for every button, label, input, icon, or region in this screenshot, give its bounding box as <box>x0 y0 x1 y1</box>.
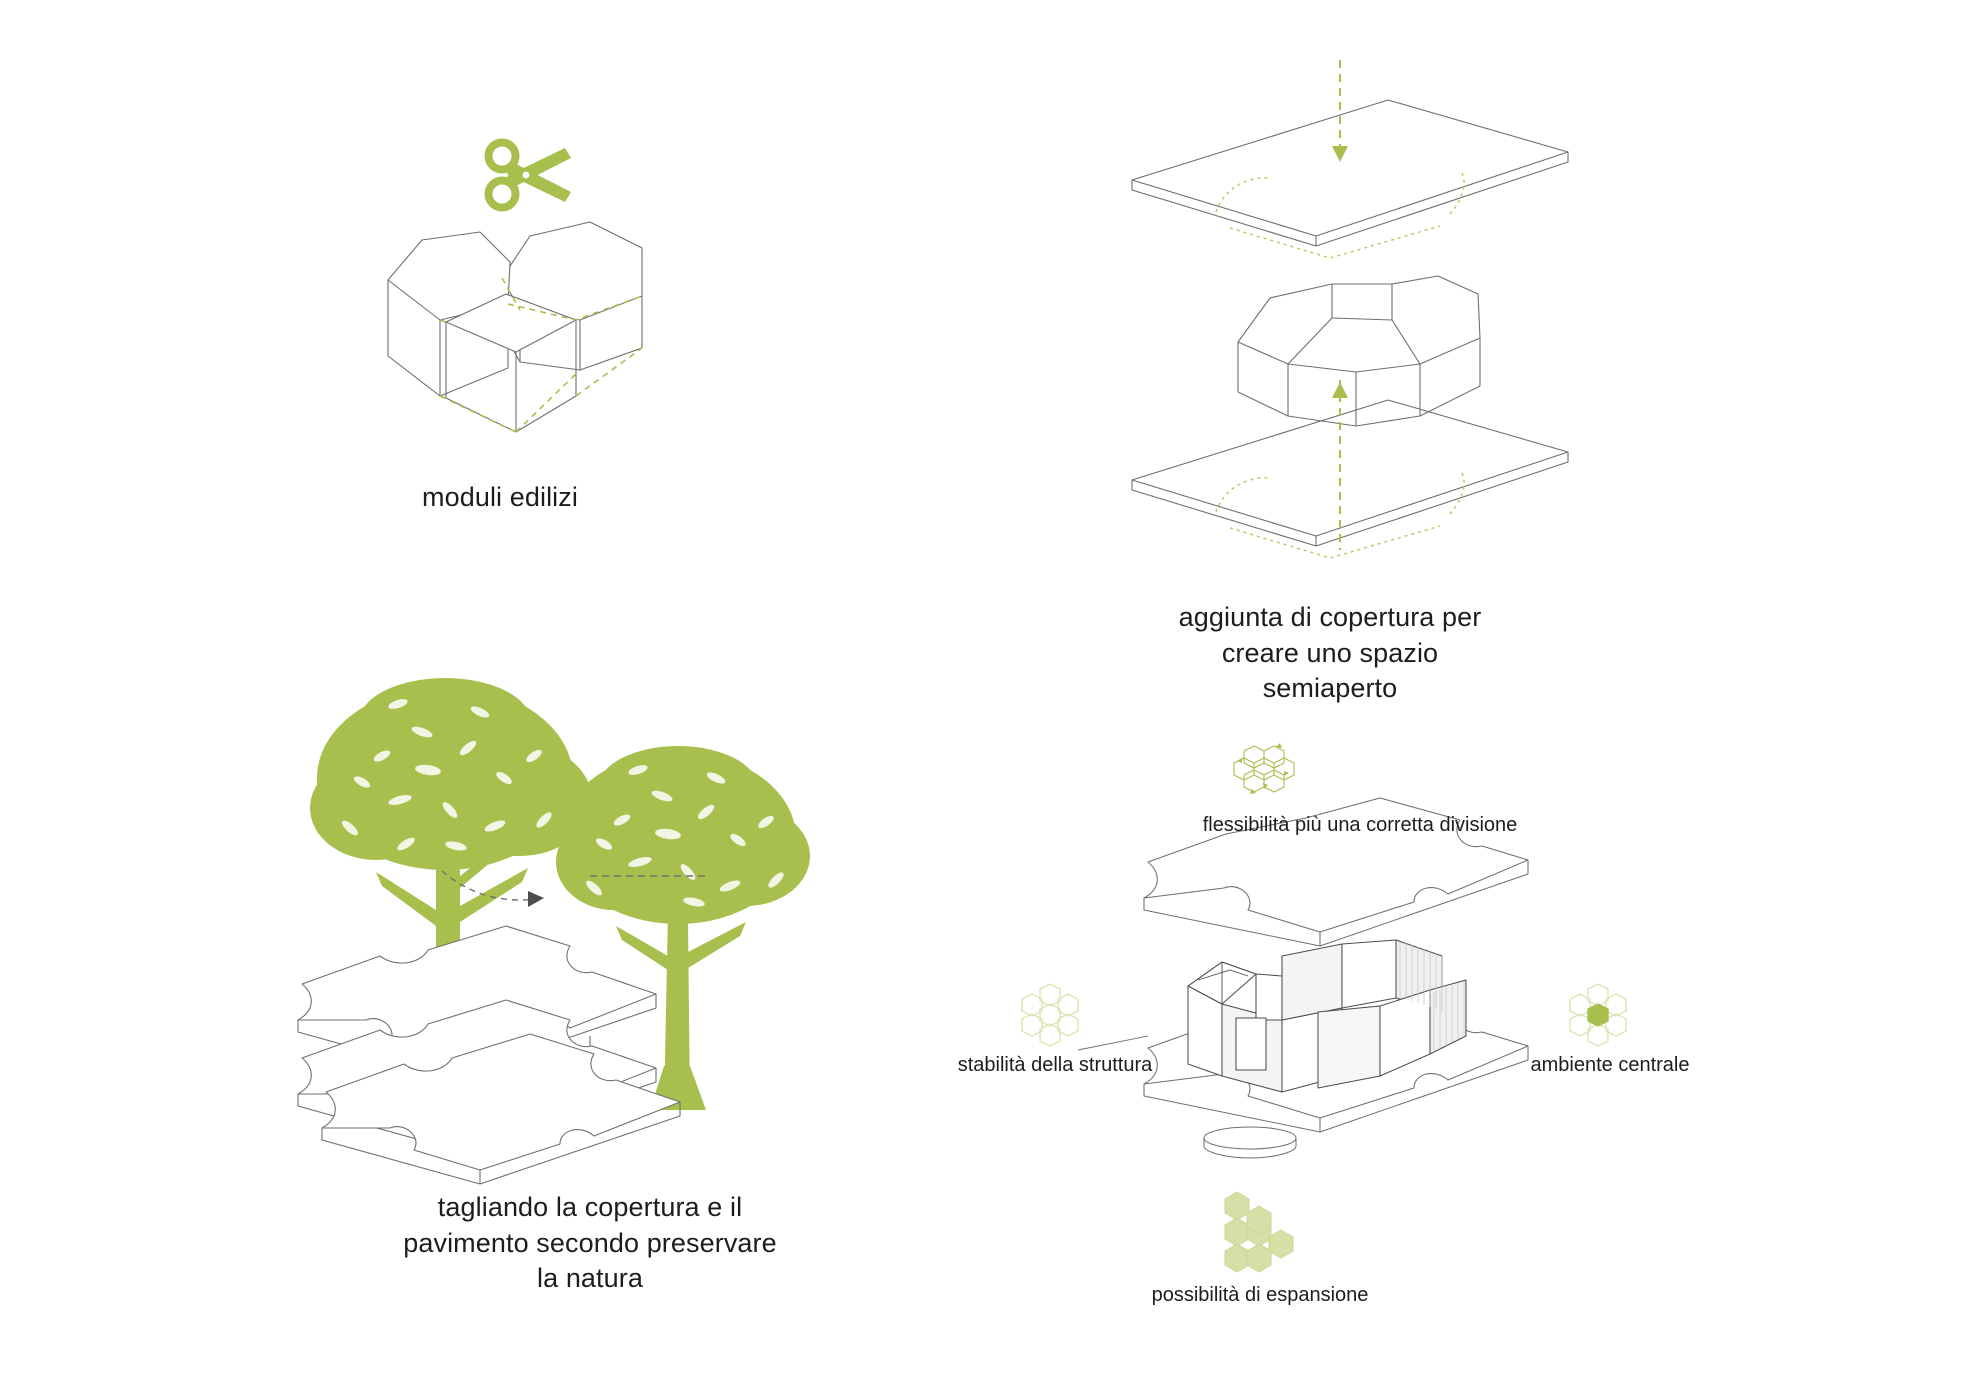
legend-ambiente <box>1578 982 1634 1048</box>
panel-struttura-finale <box>1130 840 1550 1170</box>
panel-moduli-edilizi <box>380 170 800 450</box>
hexagon-arrows-icon <box>1230 745 1300 801</box>
arrow-curve-icon <box>440 865 560 925</box>
label-espansione: possibilità di espansione <box>1100 1282 1420 1308</box>
central-volume-top <box>1238 276 1480 372</box>
scissors-icon <box>485 140 575 214</box>
cut-slabs-drawing <box>270 910 730 1210</box>
top-slab-face <box>1132 100 1568 236</box>
struttura-finale-drawing <box>1130 840 1550 1170</box>
panel-aggiunta-copertura <box>1120 80 1580 570</box>
leader-line-left <box>1078 1036 1148 1050</box>
aggiunta-copertura-drawing <box>1120 80 1580 570</box>
label-flessibilita: flessibilità più una corretta divisione <box>1130 812 1590 838</box>
honeycomb-center-icon <box>1578 982 1634 1048</box>
arrow-down-icon <box>1332 60 1348 162</box>
label-stabilita: stabilità della struttura <box>930 1052 1180 1078</box>
legend-espansione <box>1215 1190 1305 1274</box>
moduli-edilizi-drawing <box>380 170 800 450</box>
label-ambiente: ambiente centrale <box>1490 1052 1730 1078</box>
bottom-slab-face <box>1132 400 1568 536</box>
arrow-right-icon <box>590 856 730 896</box>
legend-stabilita <box>1030 982 1086 1048</box>
legend-flessibilita <box>1230 745 1300 801</box>
honeycomb-outline-icon <box>1030 982 1086 1048</box>
caption-aggiunta-copertura: aggiunta di copertura per creare uno spa… <box>1090 600 1570 707</box>
honeycomb-filled-icon <box>1215 1190 1305 1274</box>
caption-taglio-natura: tagliando la copertura e il pavimento se… <box>320 1190 860 1297</box>
caption-moduli-edilizi: moduli edilizi <box>350 480 650 516</box>
panel-taglio-natura <box>290 660 950 1180</box>
